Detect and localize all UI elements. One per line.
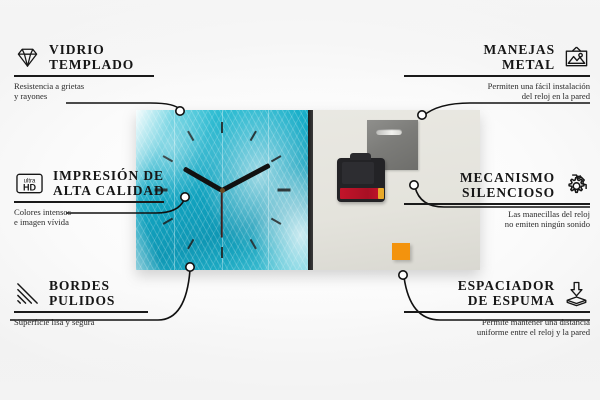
callout-divider bbox=[14, 201, 164, 203]
mechanism-hanger-tab bbox=[350, 153, 371, 160]
callout-mecanismo-silencioso[interactable]: MECANISMO SILENCIOSO Las manecillas del … bbox=[404, 170, 590, 230]
callout-bordes-pulidos[interactable]: BORDES PULIDOS Superficie lisa y segura bbox=[14, 278, 148, 327]
battery bbox=[340, 188, 380, 199]
infographic-canvas: VIDRIO TEMPLADO Resistencia a grietas y … bbox=[0, 0, 600, 400]
callout-title-line2: METAL bbox=[483, 57, 555, 72]
callout-desc-line1: Permiten una fácil instalación bbox=[404, 81, 590, 92]
callout-title-line1: MECANISMO bbox=[460, 170, 555, 185]
callout-header: ESPACIADOR DE ESPUMA bbox=[404, 278, 590, 308]
ultra-hd-icon: ultra HD bbox=[14, 170, 45, 197]
picture-frame-hanger-icon bbox=[563, 44, 590, 71]
callout-desc-line1: Superficie lisa y segura bbox=[14, 317, 148, 328]
callout-divider bbox=[404, 311, 590, 313]
callout-desc-line2: e imagen vívida bbox=[14, 217, 164, 228]
callout-divider bbox=[404, 203, 590, 205]
callout-header: MECANISMO SILENCIOSO bbox=[404, 170, 590, 200]
callout-header: ultra HD IMPRESIÓN DE ALTA CALIDAD bbox=[14, 168, 164, 198]
callout-desc-line1: Resistencia a grietas bbox=[14, 81, 154, 92]
callout-title-line2: PULIDOS bbox=[49, 293, 115, 308]
callout-desc-line2: uniforme entre el reloj y la pared bbox=[404, 327, 590, 338]
callout-divider bbox=[14, 75, 154, 77]
callout-title-line2: TEMPLADO bbox=[49, 57, 134, 72]
diagonal-lines-icon bbox=[14, 280, 41, 307]
callout-title-line2: SILENCIOSO bbox=[460, 185, 555, 200]
callout-manejas-metal[interactable]: MANEJAS METAL Permiten una fácil instala… bbox=[404, 42, 590, 102]
callout-title-line1: ESPACIADOR bbox=[458, 278, 555, 293]
callout-impresion-alta-calidad[interactable]: ultra HD IMPRESIÓN DE ALTA CALIDAD Color… bbox=[14, 168, 164, 228]
callout-title-line2: ALTA CALIDAD bbox=[53, 183, 165, 198]
hanger-keyhole-slot bbox=[376, 129, 402, 135]
mechanism-housing bbox=[342, 162, 374, 184]
quartz-mechanism bbox=[337, 158, 385, 202]
arrow-onto-foam-icon bbox=[563, 280, 590, 307]
callout-header: VIDRIO TEMPLADO bbox=[14, 42, 154, 72]
foam-spacer bbox=[392, 243, 410, 260]
callout-header: MANEJAS METAL bbox=[404, 42, 590, 72]
callout-desc-line1: Colores intensos bbox=[14, 207, 164, 218]
callout-desc-line2: del reloj en la pared bbox=[404, 91, 590, 102]
ultra-hd-icon-bottom-text: HD bbox=[23, 182, 37, 192]
callout-title-line2: DE ESPUMA bbox=[458, 293, 555, 308]
callout-divider bbox=[404, 75, 590, 77]
battery-terminal bbox=[378, 188, 384, 199]
callout-desc-line1: Permite mantener una distancia bbox=[404, 317, 590, 328]
callout-title-line1: VIDRIO bbox=[49, 42, 134, 57]
callout-title-line1: BORDES bbox=[49, 278, 115, 293]
callout-desc-line2: y rayones bbox=[14, 91, 154, 102]
callout-vidrio-templado[interactable]: VIDRIO TEMPLADO Resistencia a grietas y … bbox=[14, 42, 154, 102]
callout-desc-line2: no emiten ningún sonido bbox=[404, 219, 590, 230]
callout-espaciador-de-espuma[interactable]: ESPACIADOR DE ESPUMA Permite mantener un… bbox=[404, 278, 590, 338]
diamond-icon bbox=[14, 44, 41, 71]
gear-icon bbox=[563, 172, 590, 199]
callout-title-line1: IMPRESIÓN DE bbox=[53, 168, 165, 183]
callout-header: BORDES PULIDOS bbox=[14, 278, 148, 308]
callout-divider bbox=[14, 311, 148, 313]
callout-title-line1: MANEJAS bbox=[483, 42, 555, 57]
callout-desc-line1: Las manecillas del reloj bbox=[404, 209, 590, 220]
